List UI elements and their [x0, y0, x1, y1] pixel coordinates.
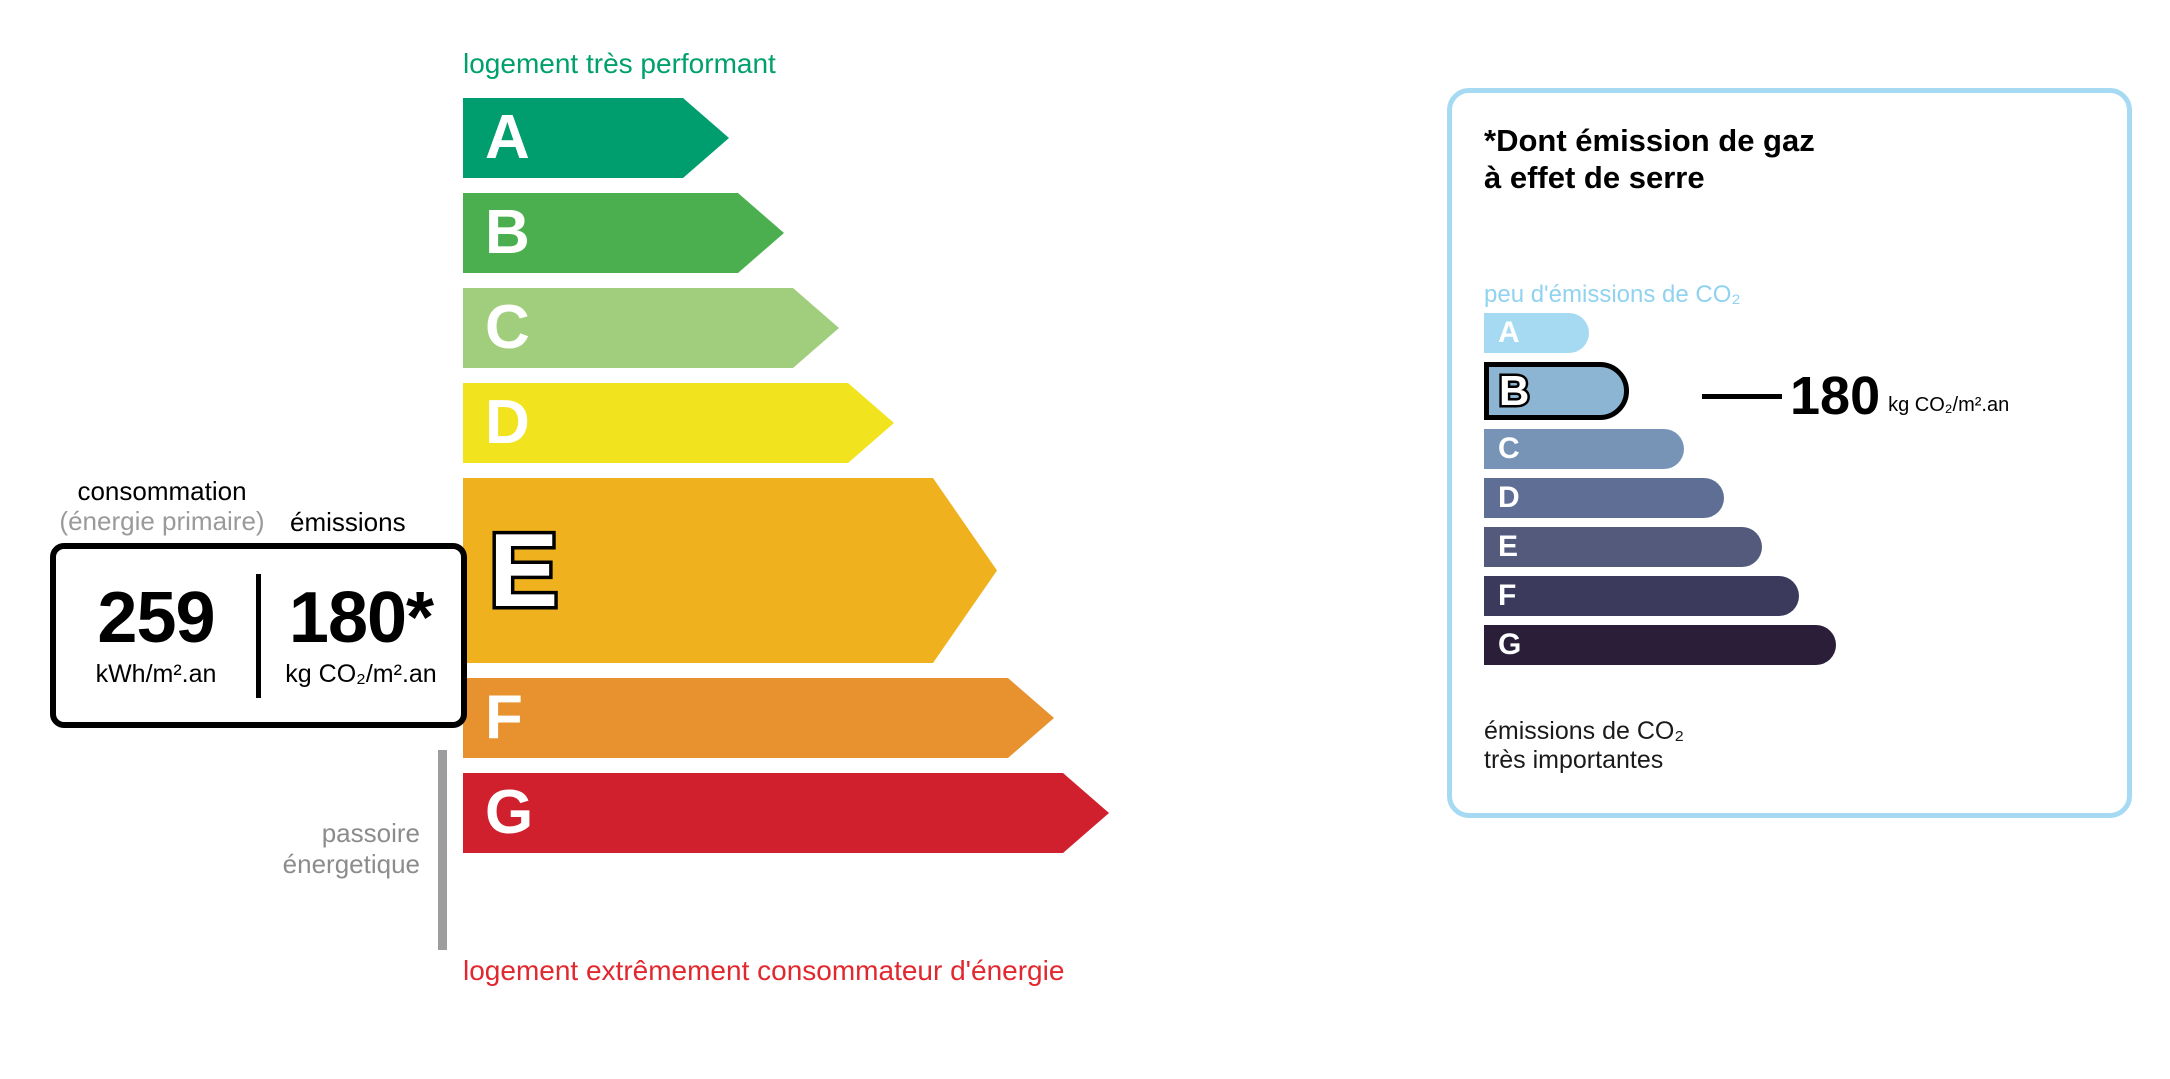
co2-bar-a: A [1484, 313, 1589, 353]
energy-band-tip-g [1063, 773, 1109, 853]
co2-emission-cell: 180* kg CO₂/m².an [261, 582, 461, 689]
energy-band-tip-d [848, 383, 894, 463]
energy-band-body-a: A [463, 98, 683, 178]
energy-band-e: E [463, 478, 1109, 663]
energy-band-body-b: B [463, 193, 738, 273]
co2-band-letter-b: B [1499, 370, 1529, 412]
energy-consumption-value: 259 [62, 582, 250, 654]
co2-band-list: ABCDEFG [1484, 313, 1836, 674]
co2-bar-e: E [1484, 527, 1762, 567]
energy-band-d: D [463, 383, 1109, 463]
co2-band-a: A [1484, 313, 1836, 353]
dpe-diagram: logement très performant ABCDEFG logemen… [0, 0, 2170, 1079]
co2-emission-value: 180* [267, 582, 455, 654]
energy-band-g: G [463, 773, 1109, 853]
co2-band-f: F [1484, 576, 1836, 616]
energy-band-letter-g: G [485, 782, 533, 844]
co2-bar-f: F [1484, 576, 1799, 616]
label-emissions: émissions [290, 507, 406, 538]
co2-bottom-line2: très importantes [1484, 746, 1684, 775]
co2-band-g: G [1484, 625, 1836, 665]
energy-band-letter-a: A [485, 107, 530, 169]
co2-value-callout: 180 kg CO₂/m².an [1702, 369, 2009, 423]
co2-bottom-caption: émissions de CO₂ très importantes [1484, 717, 1684, 775]
energy-band-letter-d: D [485, 392, 530, 454]
co2-emission-unit: kg CO₂/m².an [267, 660, 455, 689]
poor-energy-marker-bar [438, 750, 447, 950]
co2-panel-title: *Dont émission de gaz à effet de serre [1484, 123, 1815, 196]
co2-band-letter-c: C [1498, 434, 1520, 464]
energy-band-tip-a [683, 98, 729, 178]
co2-bar-b: B [1484, 362, 1629, 420]
measurement-box: 259 kWh/m².an 180* kg CO₂/m².an [50, 543, 467, 728]
co2-bar-c: C [1484, 429, 1684, 469]
energy-band-letter-c: C [485, 297, 530, 359]
energy-band-tip-b [738, 193, 784, 273]
co2-band-letter-d: D [1498, 483, 1520, 513]
label-energie-primaire: (énergie primaire) [42, 507, 282, 536]
energy-band-f: F [463, 678, 1109, 758]
co2-callout-unit: kg CO₂/m².an [1888, 394, 2009, 423]
co2-title-line1: *Dont émission de gaz [1484, 123, 1815, 160]
co2-band-letter-g: G [1498, 630, 1521, 660]
energy-band-tip-e [933, 478, 997, 663]
energy-band-body-e: E [463, 478, 933, 663]
energy-band-tip-c [793, 288, 839, 368]
co2-bottom-line1: émissions de CO₂ [1484, 717, 1684, 746]
energy-performance-scale: logement très performant ABCDEFG logemen… [0, 0, 1380, 1079]
energy-consumption-unit: kWh/m².an [62, 660, 250, 689]
co2-callout-value: 180 [1790, 369, 1880, 423]
energy-band-c: C [463, 288, 1109, 368]
energy-band-body-f: F [463, 678, 1008, 758]
co2-top-caption: peu d'émissions de CO₂ [1484, 281, 1741, 309]
energy-band-list: ABCDEFG [463, 98, 1109, 868]
co2-band-e: E [1484, 527, 1836, 567]
label-consommation: consommation [52, 477, 272, 506]
co2-band-letter-f: F [1498, 581, 1516, 611]
co2-band-letter-a: A [1498, 318, 1520, 348]
energy-band-body-c: C [463, 288, 793, 368]
co2-title-line2: à effet de serre [1484, 160, 1815, 197]
energy-band-a: A [463, 98, 1109, 178]
co2-band-c: C [1484, 429, 1836, 469]
poor-energy-marker-label: passoire énergetique [210, 818, 420, 879]
energy-band-body-d: D [463, 383, 848, 463]
poor-energy-line2: énergetique [210, 849, 420, 880]
poor-energy-line1: passoire [210, 818, 420, 849]
energy-band-tip-f [1008, 678, 1054, 758]
co2-band-d: D [1484, 478, 1836, 518]
energy-band-letter-e: E [489, 519, 558, 623]
scale-bottom-caption: logement extrêmement consommateur d'éner… [463, 955, 1064, 987]
co2-emission-panel: *Dont émission de gaz à effet de serre p… [1447, 88, 2132, 818]
energy-band-letter-f: F [485, 687, 523, 749]
scale-top-caption: logement très performant [463, 48, 776, 80]
callout-leader-line [1702, 394, 1782, 399]
energy-band-body-g: G [463, 773, 1063, 853]
co2-bar-g: G [1484, 625, 1836, 665]
energy-consumption-cell: 259 kWh/m².an [56, 582, 256, 689]
co2-bar-d: D [1484, 478, 1724, 518]
co2-band-letter-e: E [1498, 532, 1518, 562]
energy-band-letter-b: B [485, 202, 530, 264]
energy-band-b: B [463, 193, 1109, 273]
